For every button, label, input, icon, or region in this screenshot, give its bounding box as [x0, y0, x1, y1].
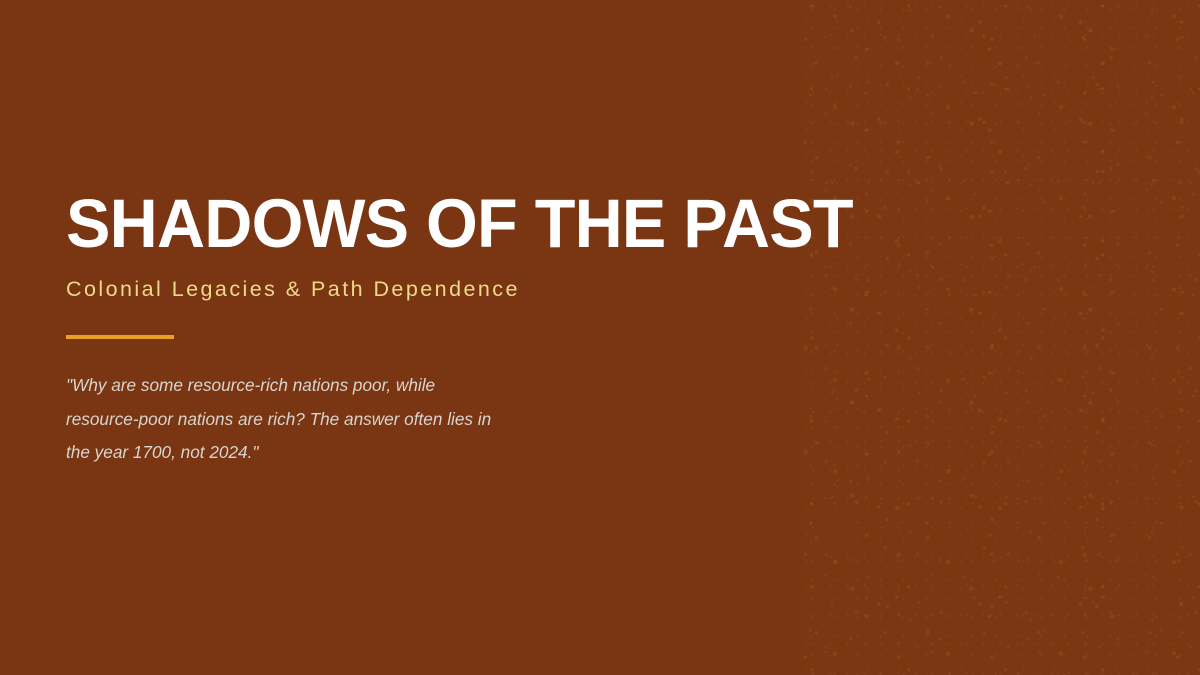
quote-line: the year 1700, not 2024." [66, 436, 611, 470]
slide-subtitle: Colonial Legacies & Path Dependence [66, 276, 826, 303]
accent-divider-rule [66, 335, 174, 339]
title-slide: SHADOWS OF THE PAST Colonial Legacies & … [0, 0, 1200, 675]
decorative-texture-grain [800, 0, 1200, 675]
slide-title: SHADOWS OF THE PAST [66, 190, 799, 258]
title-content-block: SHADOWS OF THE PAST Colonial Legacies & … [66, 190, 826, 470]
quote-line: resource-poor nations are rich? The answ… [66, 403, 611, 437]
slide-pull-quote: "Why are some resource-rich nations poor… [66, 369, 611, 470]
quote-line: "Why are some resource-rich nations poor… [66, 369, 611, 403]
